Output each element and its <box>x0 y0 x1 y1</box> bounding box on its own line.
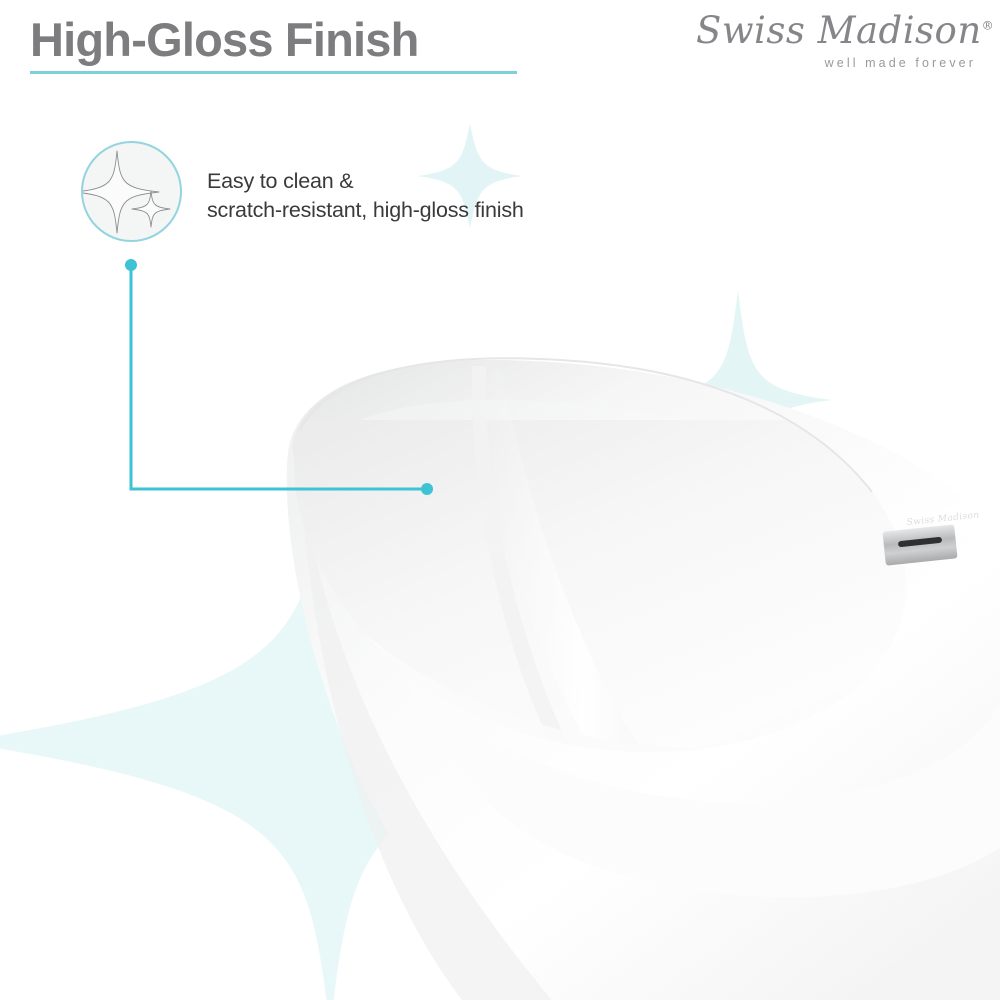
product-feature-slide: Swiss Madison High-Gloss Finish Swiss Ma… <box>0 0 1000 1000</box>
feature-description: Easy to clean & scratch-resistant, high-… <box>207 167 637 225</box>
brand-name-text: Swiss Madison <box>696 9 982 52</box>
brand-tagline: well made forever <box>825 56 976 70</box>
feature-description-line-1: Easy to clean & <box>207 167 637 196</box>
sparkle-shine-icon <box>83 143 180 240</box>
leader-start-dot <box>125 259 137 271</box>
leader-line-path <box>131 265 427 489</box>
feature-description-line-2: scratch-resistant, high-gloss finish <box>207 196 637 225</box>
brand-name: Swiss Madison® <box>696 12 978 49</box>
leader-end-dot <box>421 483 433 495</box>
feature-badge <box>81 141 182 242</box>
page-title: High-Gloss Finish <box>30 14 419 67</box>
brand-logo: Swiss Madison® well made forever <box>696 12 978 80</box>
title-underline-rule <box>30 71 517 74</box>
registered-trademark-icon: ® <box>982 19 994 33</box>
